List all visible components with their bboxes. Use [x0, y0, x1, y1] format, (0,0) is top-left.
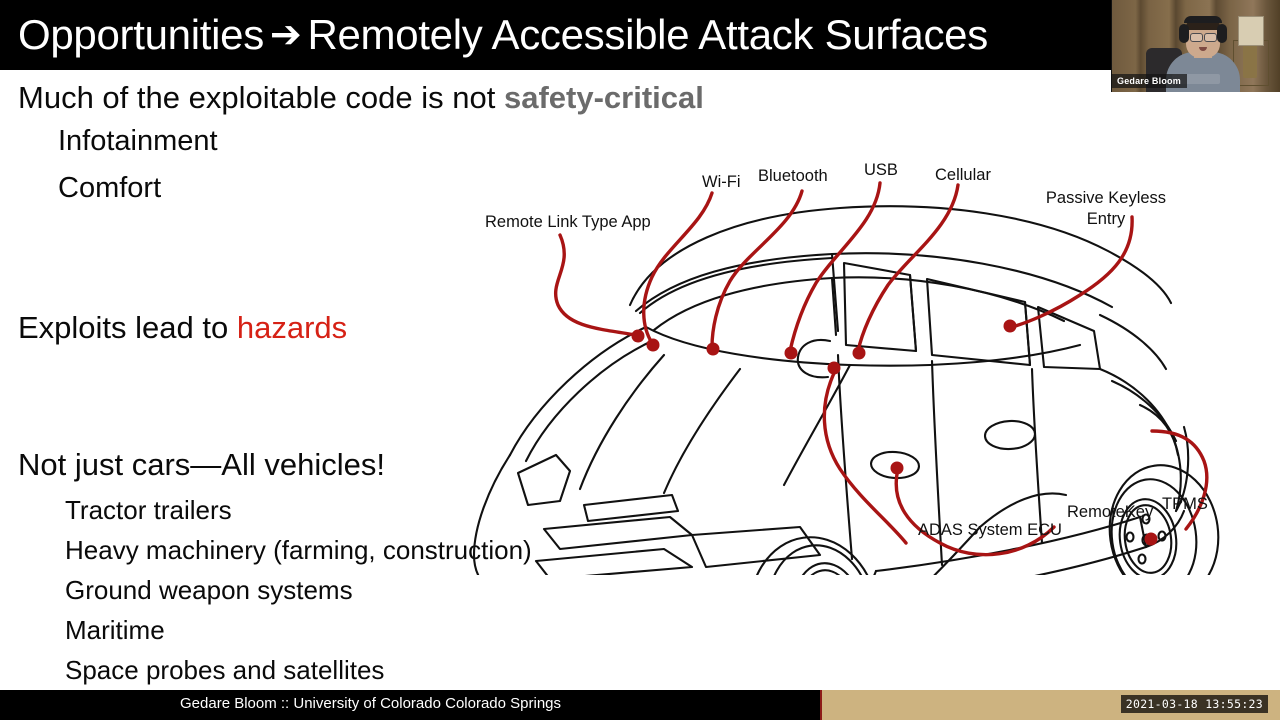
title-pre-text: Opportunities: [18, 11, 264, 58]
slide-footer: Gedare Bloom :: University of Colorado C…: [0, 690, 1280, 720]
label-remote-link-type-app: Remote Link Type App: [485, 213, 651, 232]
label-bluetooth: Bluetooth: [758, 167, 828, 186]
label-remotekey: RemoteKey: [1067, 503, 1153, 522]
safety-critical-emphasis: safety-critical: [504, 80, 704, 115]
attack-surface-diagram: Remote Link Type App Wi-Fi Bluetooth USB…: [440, 155, 1240, 575]
glasses-left-lens: [1190, 33, 1203, 42]
headphones-icon: [1184, 16, 1222, 23]
bullet-infotainment: Infotainment: [58, 125, 218, 158]
footer-attribution: Gedare Bloom :: University of Colorado C…: [180, 695, 561, 712]
arrow-right-icon: ➔: [264, 6, 308, 64]
exploits-text: Exploits lead to: [18, 310, 237, 345]
bullet-maritime: Maritime: [65, 615, 165, 646]
slide-title-bar: Opportunities➔Remotely Accessible Attack…: [0, 0, 1280, 70]
label-adas-system-ecu: ADAS System ECU: [918, 521, 1062, 540]
bullet-space-probes: Space probes and satellites: [65, 655, 384, 686]
leader-adas: [824, 369, 906, 543]
hazards-emphasis: hazards: [237, 310, 347, 345]
leader-remote-link: [556, 235, 636, 335]
headphone-left-cup: [1179, 24, 1189, 43]
heading-not-just-cars: Not just cars—All vehicles!: [18, 447, 385, 483]
page-title: Opportunities➔Remotely Accessible Attack…: [18, 6, 988, 64]
lamp-shade: [1238, 16, 1264, 46]
title-post-text: Remotely Accessible Attack Surfaces: [307, 11, 987, 58]
heading-text: Much of the exploitable code is not: [18, 80, 504, 115]
heading-exploitable-code: Much of the exploitable code is not safe…: [18, 80, 704, 116]
label-tpms: TPMS: [1162, 495, 1208, 514]
webcam-overlay[interactable]: Gedare Bloom: [1111, 0, 1280, 92]
label-passive-keyless-entry: Passive Keyless Entry: [1036, 188, 1176, 229]
glasses-right-lens: [1204, 33, 1217, 42]
label-cellular: Cellular: [935, 166, 991, 185]
leader-passive-keyless: [1012, 217, 1132, 327]
leader-wifi: [644, 193, 712, 343]
lamp-body: [1243, 44, 1257, 78]
bullet-tractor-trailers: Tractor trailers: [65, 495, 232, 526]
leader-remotekey: [896, 469, 1054, 555]
label-wifi: Wi-Fi: [702, 173, 740, 192]
label-usb: USB: [864, 161, 898, 180]
webcam-name-label: Gedare Bloom: [1112, 74, 1187, 88]
heading-exploits-hazards: Exploits lead to hazards: [18, 310, 347, 346]
recording-timestamp: 2021-03-18 13:55:23: [1121, 695, 1268, 713]
bullet-ground-weapon-systems: Ground weapon systems: [65, 575, 353, 606]
bullet-comfort: Comfort: [58, 172, 161, 205]
headphone-right-cup: [1217, 24, 1227, 43]
